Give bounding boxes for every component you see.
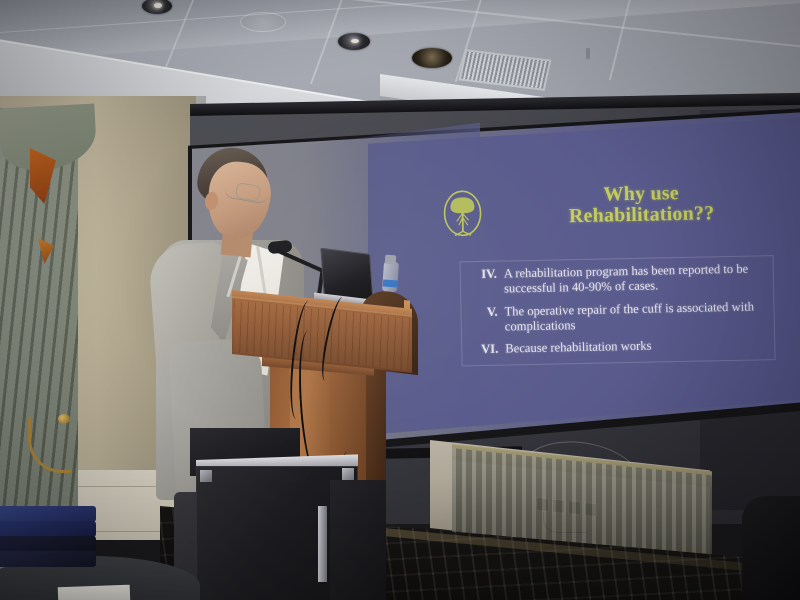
- slide-item-numeral: IV.: [463, 267, 504, 283]
- recessed-spotlight: [412, 48, 452, 68]
- spotlight-bulb: [154, 3, 162, 7]
- slide-item-numeral: VI.: [464, 342, 505, 358]
- curtain-tieback-knob: [58, 414, 70, 424]
- slide-item-text: A rehabilitation program has been report…: [504, 261, 770, 297]
- folded-garment: [0, 506, 96, 522]
- case-corner-bracket: [342, 468, 354, 480]
- water-bottle-label: [383, 279, 398, 287]
- slide-item-text: Because rehabilitation works: [505, 337, 770, 358]
- slide-list-item: IV. A rehabilitation program has been re…: [463, 261, 770, 298]
- water-bottle-cap: [385, 255, 397, 265]
- water-bottle: [382, 262, 399, 293]
- ceiling-tile-band: [0, 0, 800, 62]
- slide-list-item: V. The operative repair of the cuff is a…: [463, 299, 770, 336]
- case-corner-bracket: [200, 470, 212, 482]
- slide-content: Why use Rehabilitation?? IV. A rehabilit…: [430, 179, 775, 416]
- sprinkler-head: [586, 48, 590, 59]
- spotlight-bulb: [351, 39, 359, 43]
- hvac-vent: [459, 49, 552, 91]
- slide-title-line-2: Rehabilitation??: [516, 203, 766, 229]
- ceiling-access-panel: [240, 12, 286, 32]
- tree-emblem-logo: [440, 187, 485, 240]
- folded-garment: [0, 551, 96, 567]
- folded-garment: [0, 536, 96, 552]
- recessed-spotlight: [338, 33, 370, 50]
- slide-body-list: IV. A rehabilitation program has been re…: [460, 255, 776, 366]
- slide-item-numeral: V.: [463, 304, 504, 320]
- folded-garment: [0, 521, 96, 537]
- slide-title: Why use Rehabilitation??: [516, 181, 767, 229]
- photo-scene: Why use Rehabilitation?? IV. A rehabilit…: [0, 0, 800, 600]
- equipment-case-secondary: [330, 480, 386, 600]
- slide-list-item: VI. Because rehabilitation works: [464, 337, 770, 358]
- case-latch: [318, 506, 327, 582]
- slide-item-text: The operative repair of the cuff is asso…: [504, 299, 770, 335]
- folded-garment-stack: [0, 506, 96, 572]
- paper-sheet: [58, 585, 131, 600]
- foreground-dark-object: [742, 496, 800, 600]
